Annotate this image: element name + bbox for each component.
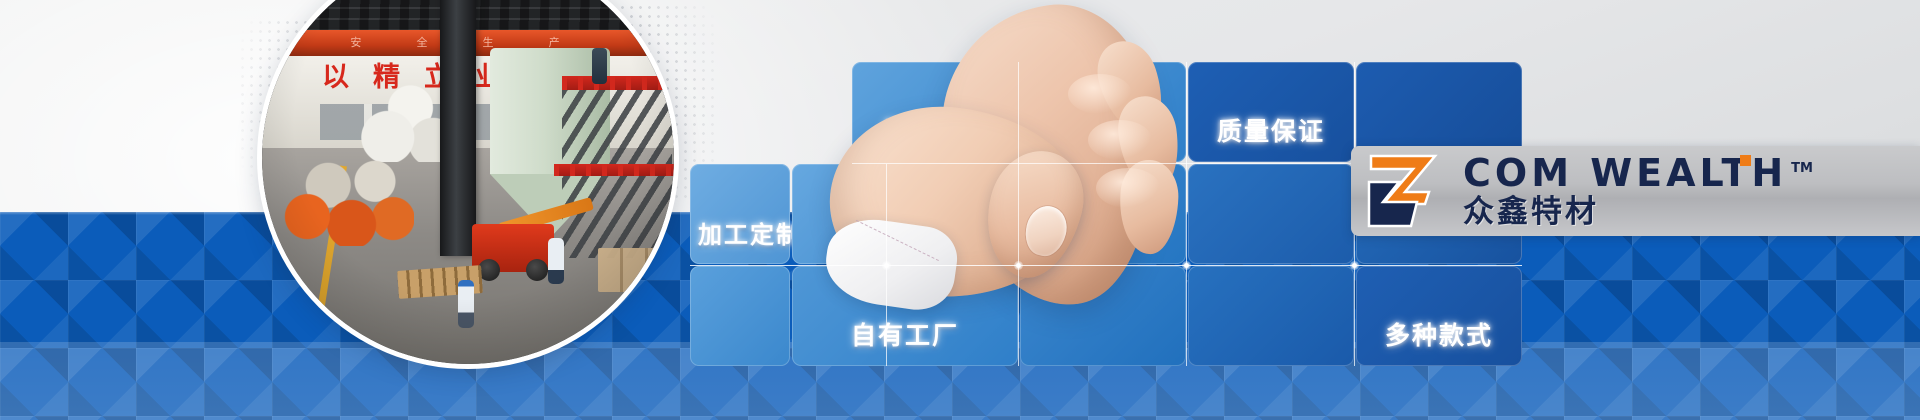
brand-logo-plate[interactable]: COM WEALTHTM 众鑫特材	[1351, 146, 1920, 236]
factory-photo-frame: 安 全 生 产 以精立业	[262, 0, 674, 364]
brand-name-english-label: COM WEALTH	[1463, 151, 1787, 195]
seam-node-4	[882, 261, 891, 270]
brand-logo-text: COM WEALTHTM 众鑫特材	[1463, 153, 1787, 228]
brand-name-chinese: 众鑫特材	[1463, 195, 1787, 228]
promo-banner: 安 全 生 产 以精立业 生产厂家	[0, 0, 1920, 420]
seam-node-2	[1182, 261, 1191, 270]
factory-interior-photo: 安 全 生 产 以精立业	[262, 0, 674, 364]
seam-vertical-1	[1018, 62, 1019, 366]
seam-node-3	[1350, 261, 1359, 270]
trademark-symbol: TM	[1791, 149, 1813, 189]
logo-orange-accent	[1740, 155, 1751, 166]
seam-horizontal-2	[690, 265, 1522, 266]
com-wealth-logo-icon	[1365, 152, 1451, 230]
brand-name-english: COM WEALTHTM	[1463, 153, 1787, 193]
seam-vertical-2	[1186, 62, 1187, 366]
seam-node-1	[1014, 261, 1023, 270]
